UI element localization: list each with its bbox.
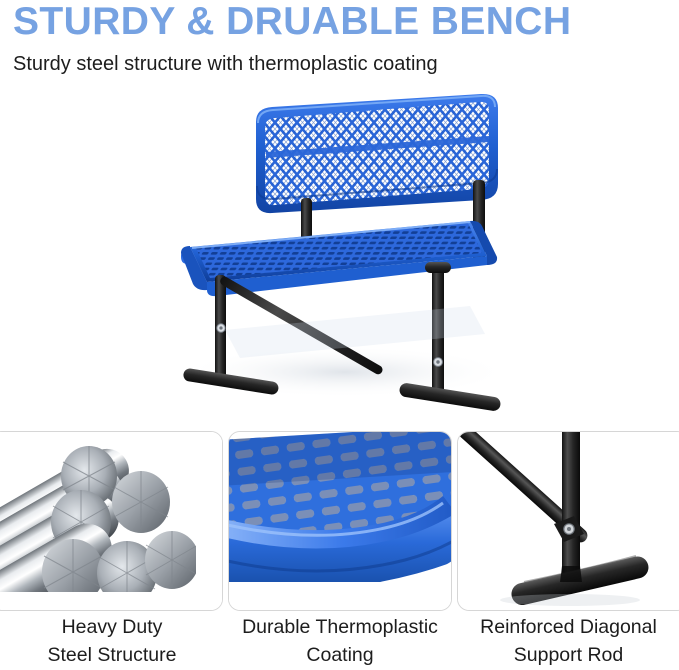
steel-rods-photo — [0, 432, 223, 611]
caption-line-2: Coating — [226, 641, 454, 669]
caption-line-2: Support Rod — [458, 641, 679, 669]
mesh-seat-corner-photo — [229, 432, 452, 611]
caption-reinforced-diagonal-support-rod: Reinforced Diagonal Support Rod — [458, 613, 679, 669]
bench-illustration — [0, 90, 679, 428]
page-subtitle: Sturdy steel structure with thermoplasti… — [13, 51, 438, 77]
caption-line-1: Durable Thermoplastic — [226, 613, 454, 641]
panel-steel-rods — [0, 431, 223, 611]
bench-backrest — [256, 94, 498, 213]
hero-product-image — [0, 90, 679, 428]
caption-line-2: Steel Structure — [6, 641, 218, 669]
header: STURDY & DRUABLE BENCH Sturdy steel stru… — [0, 0, 679, 88]
panel-support-rod — [457, 431, 679, 611]
page-title: STURDY & DRUABLE BENCH — [13, 0, 571, 44]
caption-line-1: Reinforced Diagonal — [458, 613, 679, 641]
panel-thermoplastic-coating — [228, 431, 452, 611]
caption-line-1: Heavy Duty — [6, 613, 218, 641]
diagonal-support-rod-photo — [458, 432, 679, 611]
caption-heavy-duty-steel-structure: Heavy Duty Steel Structure — [6, 613, 218, 669]
floor-shadow — [500, 594, 640, 606]
feature-panels — [0, 431, 679, 611]
feature-captions: Heavy Duty Steel Structure Durable Therm… — [0, 613, 679, 670]
caption-durable-thermoplastic-coating: Durable Thermoplastic Coating — [226, 613, 454, 669]
